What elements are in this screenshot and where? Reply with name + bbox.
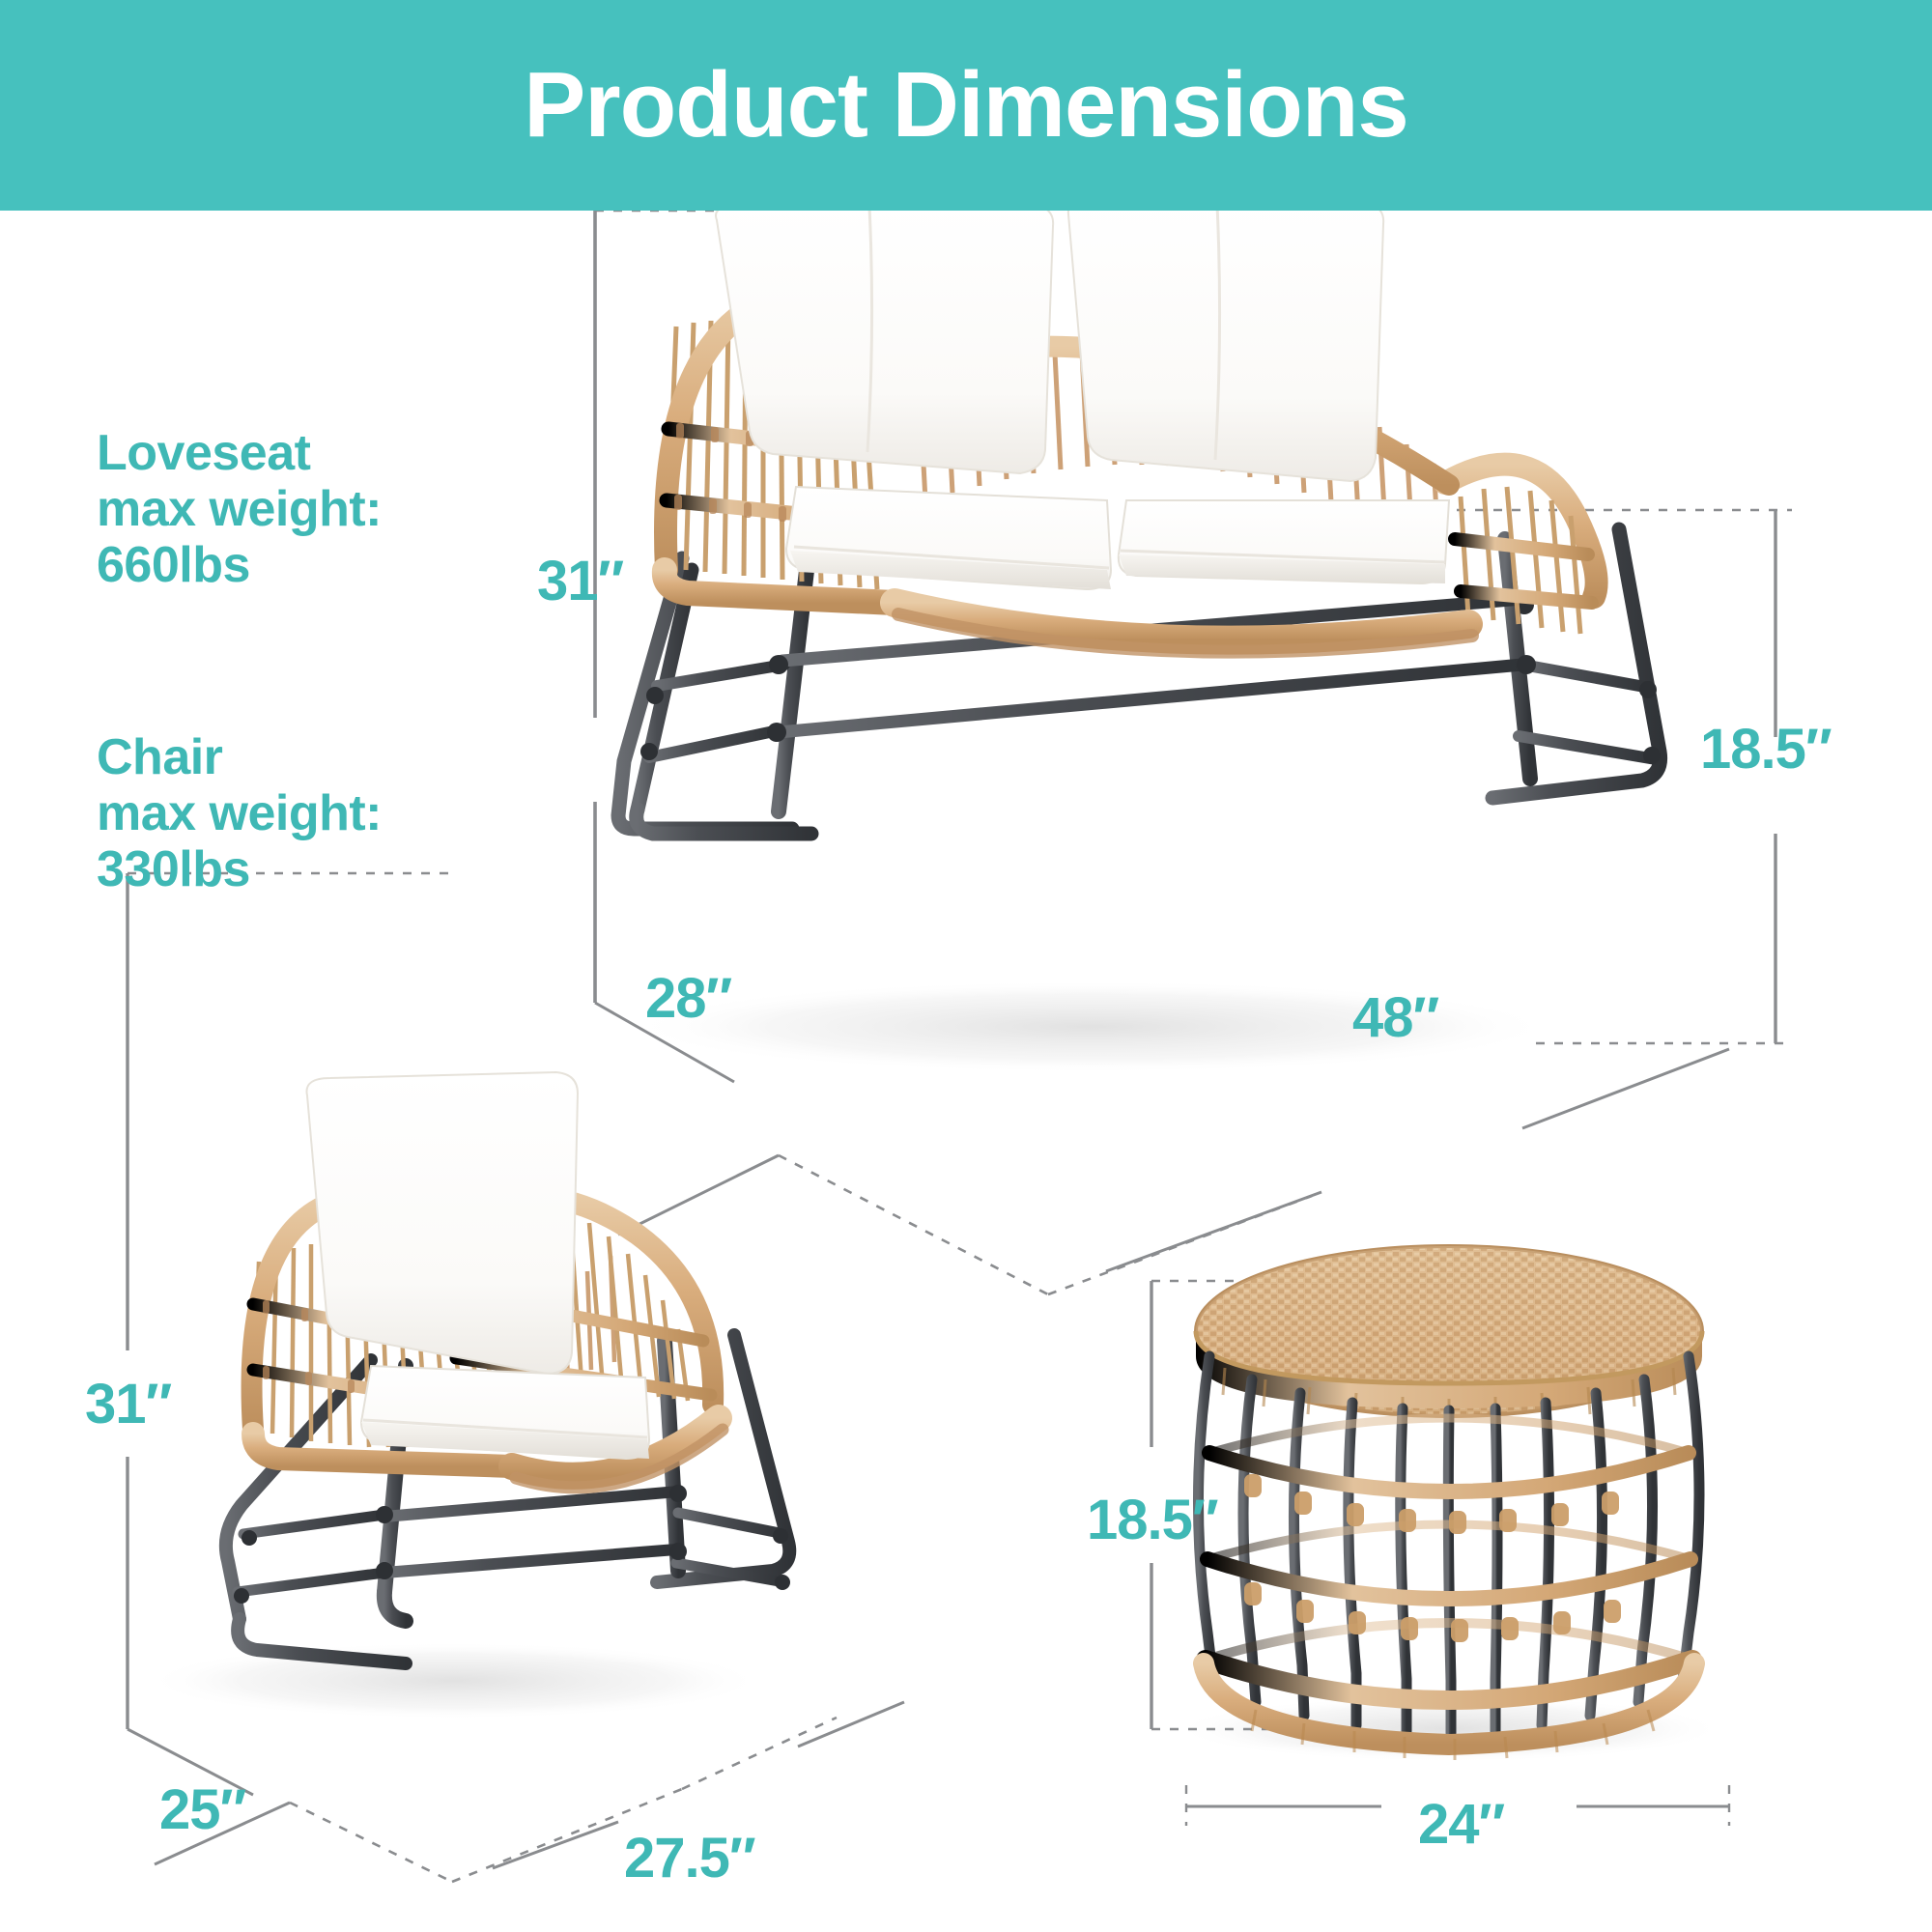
dimension-label-loveseat-depth: 28″ <box>645 971 731 1027</box>
dimension-label-chair-width: 27.5″ <box>624 1831 755 1887</box>
dimension-label-chair-height: 31″ <box>85 1377 171 1433</box>
chair-cushions <box>307 1072 650 1459</box>
dimension-label-table-height: 18.5″ <box>1087 1492 1218 1548</box>
chair-back-cushion <box>307 1072 579 1374</box>
dimension-label-loveseat-width: 48″ <box>1352 990 1438 1046</box>
spec-loveseat-max-weight: Loveseat max weight: 660lbs <box>97 425 382 594</box>
spec-chair-max-weight: Chair max weight: 330lbs <box>97 729 382 898</box>
page-title: Product Dimensions <box>524 59 1407 152</box>
dimension-label-loveseat-seat-height: 18.5″ <box>1700 722 1832 778</box>
table-ring-knots <box>1244 1474 1621 1642</box>
dimension-label-table-diameter: 24″ <box>1418 1797 1504 1853</box>
loveseat-illustration <box>595 211 1792 1294</box>
header-banner: Product Dimensions <box>0 0 1932 211</box>
dimension-label-loveseat-height: 31″ <box>537 554 623 610</box>
side-table-illustration <box>1151 1246 1729 1826</box>
dimension-label-chair-depth: 25″ <box>159 1782 245 1838</box>
